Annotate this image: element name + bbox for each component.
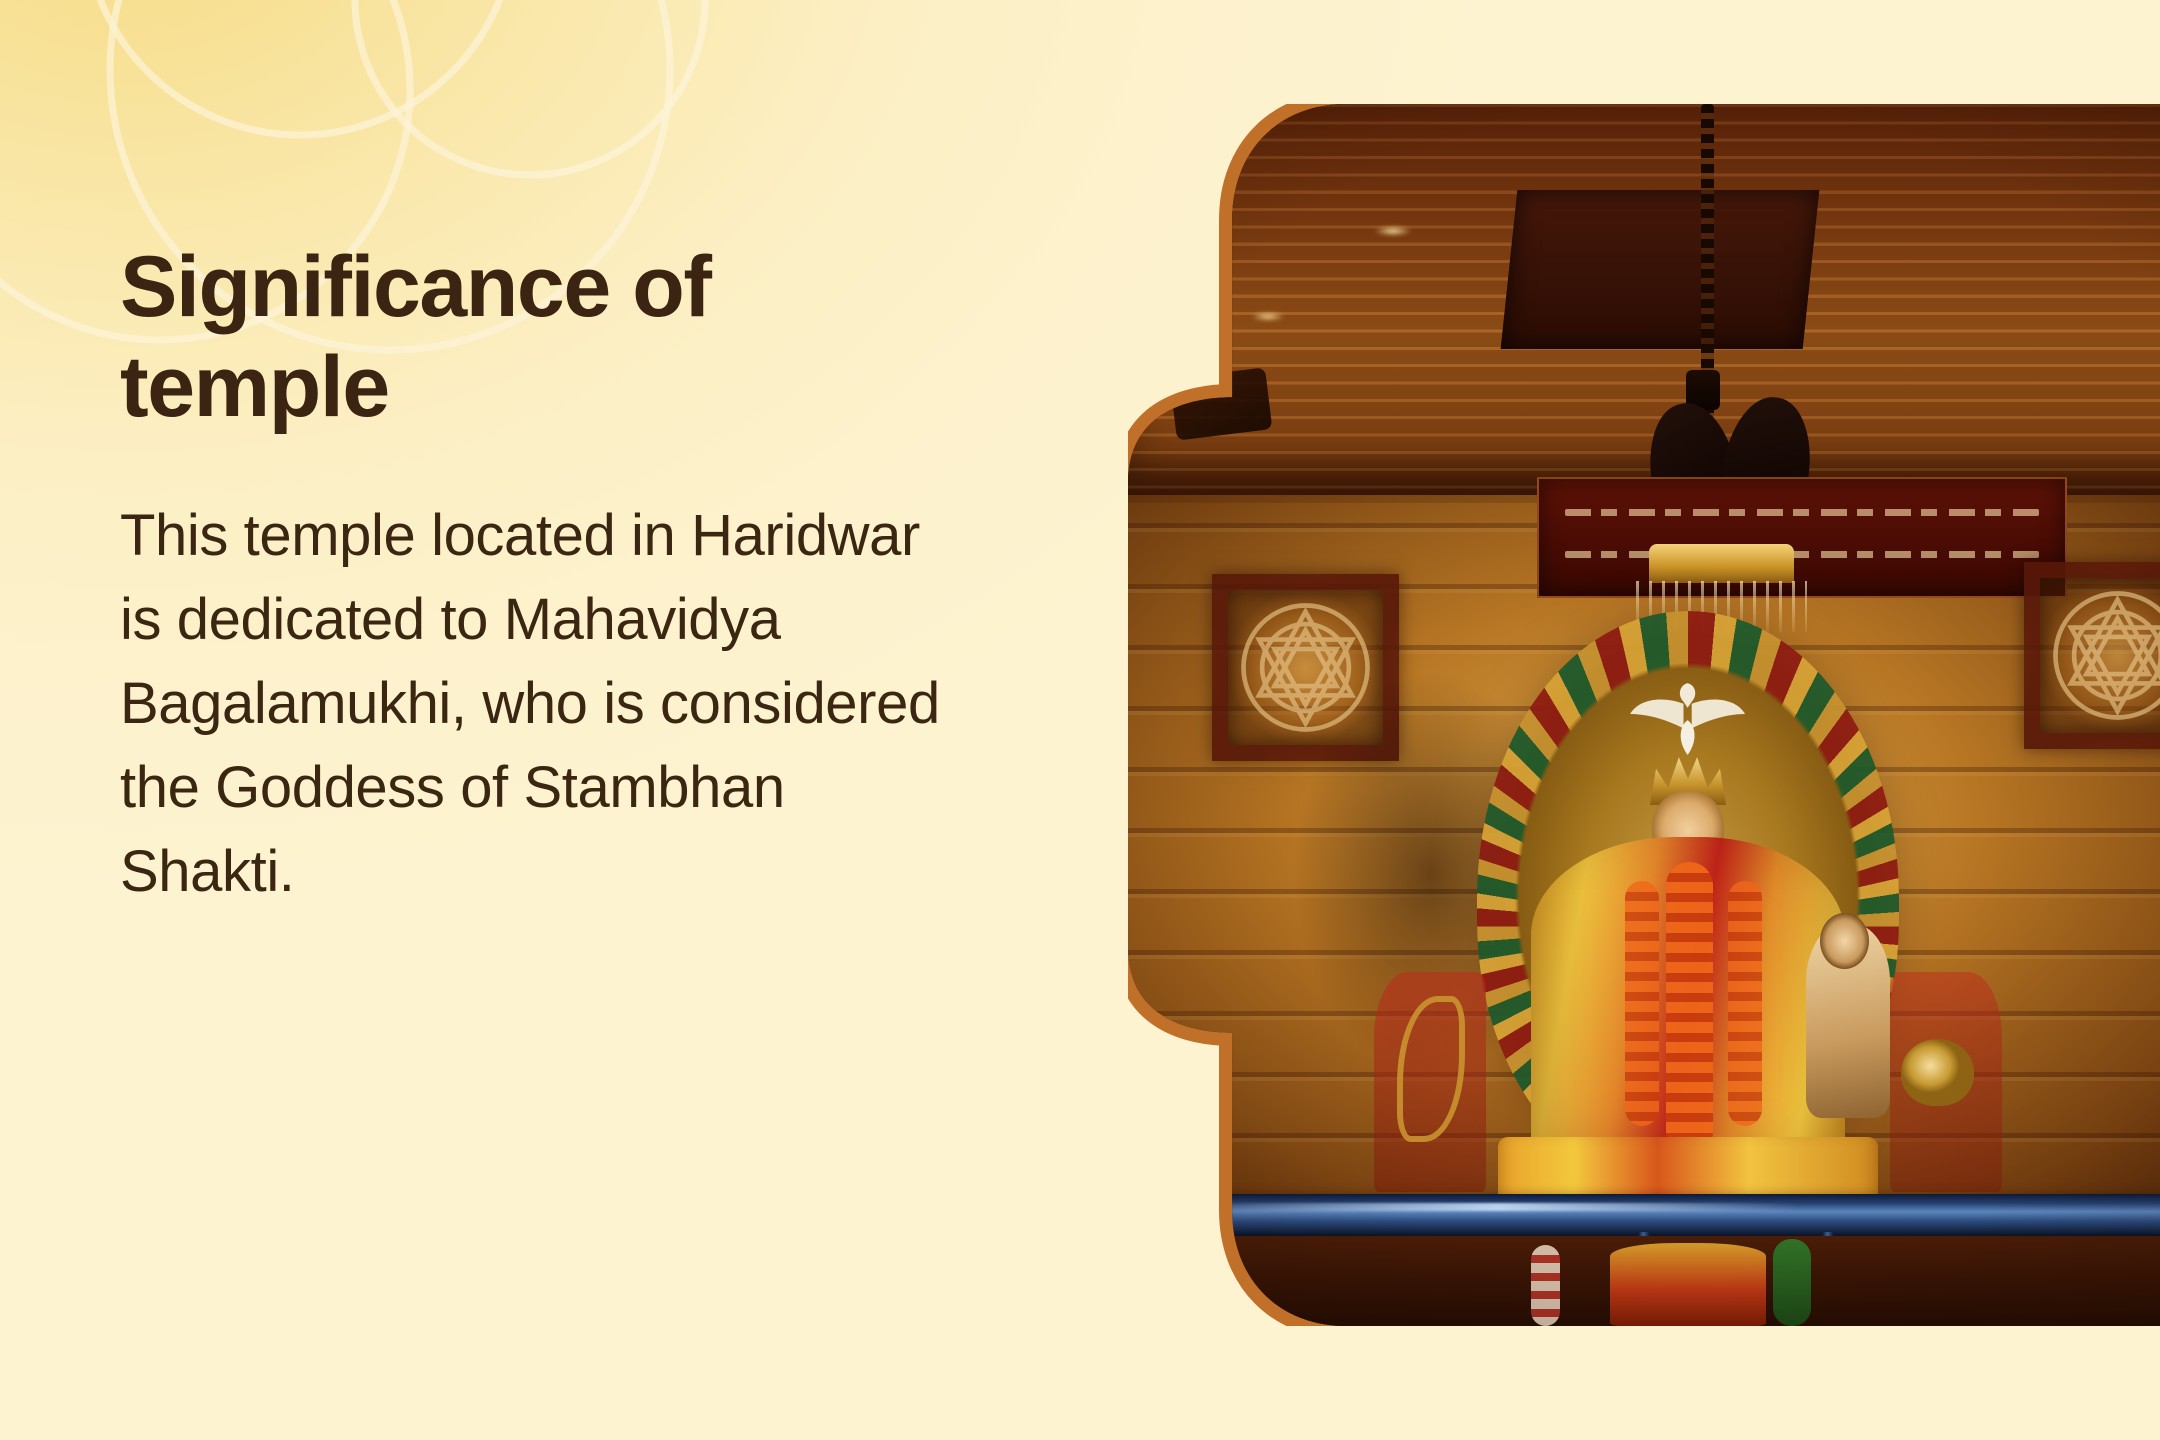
temple-photo-panel: [1128, 104, 2160, 1326]
text-column: Significance of temple This temple locat…: [120, 238, 950, 914]
sri-yantra-carving-icon: [2024, 562, 2160, 749]
marigold-garland: [1666, 862, 1713, 1155]
foliage-offering: [1773, 1239, 1811, 1326]
railing-highlight: [1195, 1203, 1800, 1212]
slide-canvas: Significance of temple This temple locat…: [0, 0, 2160, 1440]
plaque-text-line: [1565, 509, 2039, 516]
ceiling-light-icon: [1374, 226, 1412, 236]
plaque-text-line: [1565, 551, 2039, 558]
lower-deity-figure: [1610, 1243, 1767, 1326]
temple-photo-clip: [1128, 104, 2160, 1326]
page-title: Significance of temple: [120, 238, 820, 438]
marigold-garland: [1728, 881, 1762, 1125]
sri-yantra-carving-icon: [1212, 574, 1399, 761]
hanging-garland: [1531, 1245, 1560, 1326]
ceiling-vent-panel: [1500, 190, 1819, 349]
body-paragraph: This temple located in Haridwar is dedic…: [120, 494, 950, 914]
marigold-garland: [1625, 881, 1659, 1125]
swan-hamsa-icon: [1626, 660, 1749, 770]
deity-canopy: [1649, 544, 1795, 583]
conch-shell-icon: [1901, 1039, 1974, 1106]
altar-railing: [1128, 1194, 2160, 1236]
temple-interior-photo: [1128, 104, 2160, 1326]
ceiling-light-icon: [1251, 312, 1285, 321]
